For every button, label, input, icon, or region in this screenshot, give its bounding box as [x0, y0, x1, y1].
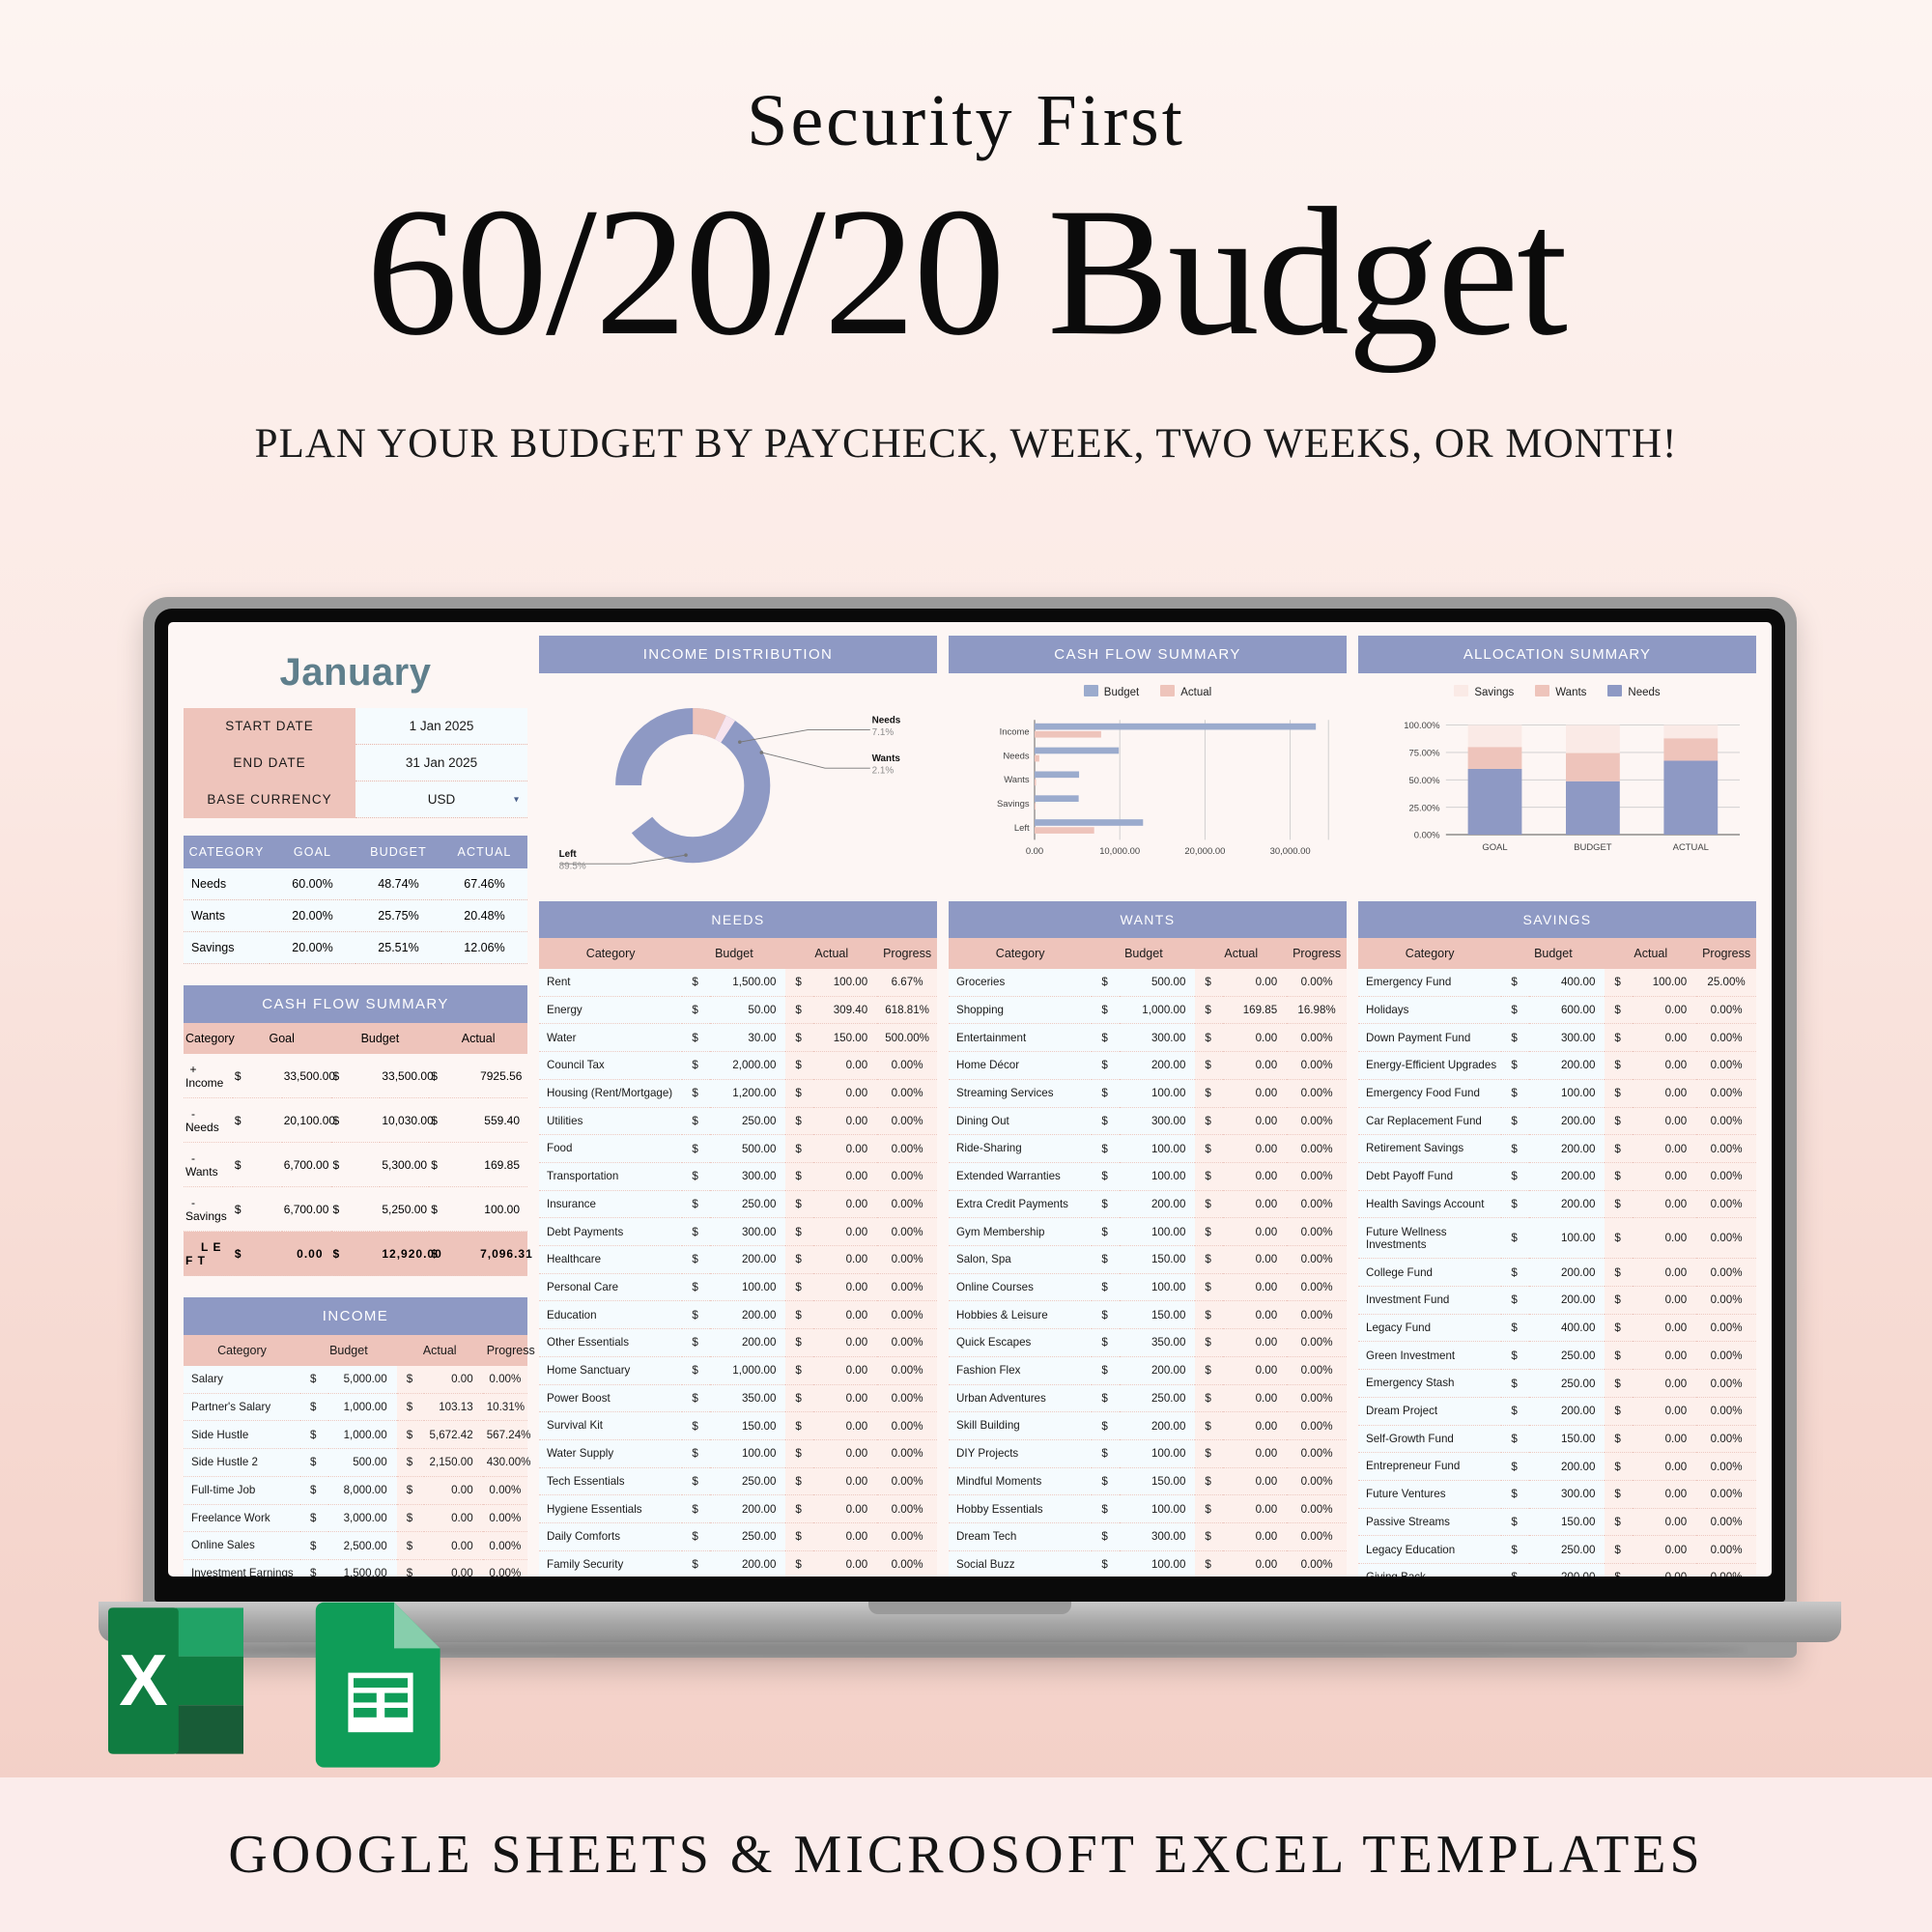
row-category: Gym Membership — [949, 1218, 1092, 1246]
row-budget[interactable]: 1,000.00 — [1120, 996, 1195, 1024]
row-budget[interactable]: 300.00 — [1120, 1523, 1195, 1551]
row-actual[interactable]: 0.00 — [1633, 1162, 1696, 1190]
allocation-summary-title: ALLOCATION SUMMARY — [1358, 636, 1756, 673]
currency-symbol: $ — [1501, 1314, 1529, 1342]
row-actual[interactable]: 0.00 — [1223, 1495, 1287, 1523]
row-actual[interactable]: 0.00 — [1223, 1439, 1287, 1467]
row-actual[interactable]: 0.00 — [1223, 1412, 1287, 1440]
row-actual[interactable]: 103.13 — [424, 1393, 483, 1421]
setup-label-end-date: END DATE — [184, 745, 355, 781]
row-budget[interactable]: 300.00 — [1120, 1107, 1195, 1135]
goal-row-category: Savings — [184, 932, 270, 964]
row-actual[interactable]: 0.00 — [813, 1329, 877, 1357]
row-actual[interactable]: 309.40 — [813, 996, 877, 1024]
row-budget[interactable]: 300.00 — [1529, 1480, 1605, 1508]
row-progress: 0.00% — [1287, 1107, 1347, 1135]
setup-value-start-date[interactable]: 1 Jan 2025 — [355, 708, 527, 745]
row-progress: 0.00% — [1696, 1425, 1756, 1453]
row-budget[interactable]: 200.00 — [1120, 1412, 1195, 1440]
row-budget[interactable]: 8,000.00 — [328, 1476, 397, 1504]
row-actual[interactable]: 0.00 — [1633, 1342, 1696, 1370]
row-actual[interactable]: 0.00 — [1633, 1508, 1696, 1536]
row-actual[interactable]: 0.00 — [424, 1559, 483, 1577]
row-budget[interactable]: 250.00 — [710, 1467, 785, 1495]
row-actual[interactable]: 0.00 — [1223, 1550, 1287, 1577]
cash-flow-chart-title: CASH FLOW SUMMARY — [949, 636, 1347, 673]
needs-table: Category Budget Actual Progress Rent$1,5… — [539, 938, 937, 1577]
setup-label-base-currency: BASE CURRENCY — [184, 781, 355, 818]
currency-symbol: $ — [1501, 1052, 1529, 1080]
cash-flow-row-name: -Needs — [184, 1098, 233, 1143]
row-budget[interactable]: 150.00 — [1120, 1301, 1195, 1329]
row-budget[interactable]: 100.00 — [1529, 1218, 1605, 1259]
row-budget[interactable]: 5,000.00 — [328, 1366, 397, 1393]
row-progress: 0.00% — [1287, 1079, 1347, 1107]
currency-symbol: $ — [1605, 1079, 1633, 1107]
chevron-down-icon[interactable]: ▾ — [514, 794, 519, 805]
y-tick-labels: IncomeNeedsWantsSavingsLeft — [997, 727, 1030, 834]
row-budget[interactable]: 300.00 — [710, 1162, 785, 1190]
row-actual[interactable]: 0.00 — [813, 1107, 877, 1135]
row-budget[interactable]: 100.00 — [1529, 1079, 1605, 1107]
row-actual[interactable]: 0.00 — [1223, 1162, 1287, 1190]
row-progress: 0.00% — [1696, 996, 1756, 1024]
row-budget[interactable]: 200.00 — [1120, 1052, 1195, 1080]
currency-symbol: $ — [1605, 1107, 1633, 1135]
table-row: Shopping$1,000.00$169.8516.98% — [949, 996, 1347, 1024]
needs-leader-dot — [738, 740, 742, 744]
table-row: Utilities$250.00$0.000.00% — [539, 1107, 937, 1135]
page-title: 60/20/20 Budget — [0, 177, 1932, 370]
currency-symbol: $ — [1501, 1218, 1529, 1259]
currency-symbol: $ — [1501, 1259, 1529, 1287]
row-actual[interactable]: 150.00 — [813, 1024, 877, 1052]
row-actual[interactable]: 0.00 — [1223, 1052, 1287, 1080]
row-budget[interactable]: 350.00 — [710, 1384, 785, 1412]
currency-symbol: $ — [785, 1190, 813, 1218]
currency-symbol: $ — [1501, 1480, 1529, 1508]
row-budget[interactable]: 400.00 — [1529, 1314, 1605, 1342]
col-budget: Budget — [682, 938, 785, 969]
row-category: Self-Growth Fund — [1358, 1425, 1501, 1453]
row-actual[interactable]: 0.00 — [1223, 1356, 1287, 1384]
row-actual[interactable]: 0.00 — [813, 1273, 877, 1301]
cash-flow-actual: 100.00 — [478, 1187, 527, 1232]
row-progress: 0.00% — [1287, 1412, 1347, 1440]
row-actual[interactable]: 0.00 — [813, 1412, 877, 1440]
row-actual[interactable]: 0.00 — [1633, 996, 1696, 1024]
currency-symbol: $ — [785, 1329, 813, 1357]
currency-symbol: $ — [785, 1467, 813, 1495]
row-actual[interactable]: 0.00 — [1633, 1370, 1696, 1398]
row-budget[interactable]: 200.00 — [710, 1495, 785, 1523]
wants-title: WANTS — [949, 901, 1347, 938]
row-actual[interactable]: 0.00 — [813, 1190, 877, 1218]
row-budget[interactable]: 200.00 — [1529, 1564, 1605, 1577]
bar-income-actual — [1035, 731, 1101, 738]
row-category: Freelance Work — [184, 1504, 300, 1532]
currency-symbol: $ — [300, 1532, 327, 1560]
table-row: Quick Escapes$350.00$0.000.00% — [949, 1329, 1347, 1357]
row-actual[interactable]: 0.00 — [1223, 1467, 1287, 1495]
currency-symbol: $ — [682, 1495, 710, 1523]
row-budget[interactable]: 1,500.00 — [328, 1559, 397, 1577]
row-budget[interactable]: 100.00 — [1120, 1439, 1195, 1467]
row-actual[interactable]: 0.00 — [1633, 1314, 1696, 1342]
row-actual[interactable]: 0.00 — [813, 1246, 877, 1274]
brand-name: Security First — [0, 79, 1932, 163]
row-budget[interactable]: 1,200.00 — [710, 1079, 785, 1107]
row-actual[interactable]: 0.00 — [1633, 1536, 1696, 1564]
row-budget[interactable]: 250.00 — [1529, 1370, 1605, 1398]
needs-body: Rent$1,500.00$100.006.67%Energy$50.00$30… — [539, 969, 937, 1577]
row-budget[interactable]: 200.00 — [1529, 1135, 1605, 1163]
row-actual[interactable]: 0.00 — [1223, 1218, 1287, 1246]
currency-symbol: $ — [682, 1162, 710, 1190]
currency-symbol: $ — [300, 1559, 327, 1577]
cash-flow-plot: IncomeNeedsWantsSavingsLeft 0.0010,000.0… — [997, 720, 1328, 857]
row-actual[interactable]: 0.00 — [1223, 1301, 1287, 1329]
table-row: Food$500.00$0.000.00% — [539, 1135, 937, 1163]
cash-flow-category-label: Income — [1000, 727, 1030, 738]
row-budget[interactable]: 30.00 — [710, 1024, 785, 1052]
row-budget[interactable]: 500.00 — [710, 1135, 785, 1163]
table-row: Entertainment$300.00$0.000.00% — [949, 1024, 1347, 1052]
row-category: Social Buzz — [949, 1550, 1092, 1577]
setup-value-end-date[interactable]: 31 Jan 2025 — [355, 745, 527, 781]
row-actual[interactable]: 0.00 — [424, 1366, 483, 1393]
allocation-x-tick: BUDGET — [1574, 842, 1612, 853]
row-actual[interactable]: 0.00 — [813, 1079, 877, 1107]
row-budget[interactable]: 250.00 — [1120, 1384, 1195, 1412]
row-actual[interactable]: 0.00 — [1633, 1564, 1696, 1577]
row-budget[interactable]: 200.00 — [1120, 1356, 1195, 1384]
row-budget[interactable]: 50.00 — [710, 996, 785, 1024]
col-actual: Actual — [397, 1335, 483, 1366]
col-budget: Budget — [1501, 938, 1605, 969]
row-category: Debt Payoff Fund — [1358, 1162, 1501, 1190]
row-progress: 0.00% — [1287, 1550, 1347, 1577]
row-budget[interactable]: 3,000.00 — [328, 1504, 397, 1532]
currency-symbol: $ — [682, 1412, 710, 1440]
row-budget[interactable]: 2,000.00 — [710, 1052, 785, 1080]
bar-savings-budget — [1035, 795, 1079, 802]
stacked-bars-group — [1468, 725, 1719, 835]
row-category: Full-time Job — [184, 1476, 300, 1504]
row-actual[interactable]: 0.00 — [424, 1476, 483, 1504]
row-actual[interactable]: 0.00 — [1633, 1453, 1696, 1481]
row-actual[interactable]: 0.00 — [813, 1301, 877, 1329]
row-budget[interactable]: 2,500.00 — [328, 1532, 397, 1560]
row-actual[interactable]: 0.00 — [813, 1218, 877, 1246]
row-actual[interactable]: 0.00 — [424, 1504, 483, 1532]
col-actual: Actual — [785, 938, 877, 969]
row-actual[interactable]: 0.00 — [813, 1550, 877, 1577]
row-budget[interactable]: 200.00 — [1529, 1287, 1605, 1315]
currency-symbol: $ — [1195, 1079, 1223, 1107]
table-row: Dream Project$200.00$0.000.00% — [1358, 1397, 1756, 1425]
currency-symbol: $ — [785, 1523, 813, 1551]
row-actual[interactable]: 0.00 — [1633, 1079, 1696, 1107]
row-progress: 0.00% — [877, 1190, 937, 1218]
cash-flow-category-label: Left — [1014, 823, 1030, 834]
currency-symbol: $ — [1195, 1523, 1223, 1551]
row-budget[interactable]: 100.00 — [1120, 1162, 1195, 1190]
currency-symbol: $ — [682, 1135, 710, 1163]
currency-symbol: $ — [1501, 1425, 1529, 1453]
currency-symbol: $ — [1195, 1135, 1223, 1163]
row-actual[interactable]: 0.00 — [1223, 969, 1287, 996]
row-budget[interactable]: 250.00 — [710, 1190, 785, 1218]
row-budget[interactable]: 200.00 — [1529, 1107, 1605, 1135]
row-budget[interactable]: 150.00 — [1120, 1467, 1195, 1495]
currency-symbol: $ — [1501, 1342, 1529, 1370]
row-category: Streaming Services — [949, 1079, 1092, 1107]
currency-symbol: $ — [1092, 1135, 1120, 1163]
row-progress: 0.00% — [1696, 1287, 1756, 1315]
row-budget[interactable]: 600.00 — [1529, 996, 1605, 1024]
currency-symbol: $ — [785, 1135, 813, 1163]
row-actual[interactable]: 0.00 — [1633, 1259, 1696, 1287]
row-actual[interactable]: 0.00 — [1633, 1425, 1696, 1453]
row-budget[interactable]: 350.00 — [1120, 1329, 1195, 1357]
row-actual[interactable]: 0.00 — [813, 1135, 877, 1163]
poster-header: Security First 60/20/20 Budget PLAN YOUR… — [0, 0, 1932, 468]
table-row: Skill Building$200.00$0.000.00% — [949, 1412, 1347, 1440]
currency-symbol: $ — [1501, 1024, 1529, 1052]
row-budget[interactable]: 100.00 — [710, 1273, 785, 1301]
row-budget[interactable]: 200.00 — [1529, 1052, 1605, 1080]
row-actual[interactable]: 0.00 — [1223, 1079, 1287, 1107]
row-actual[interactable]: 0.00 — [424, 1532, 483, 1560]
row-progress: 0.00% — [877, 1246, 937, 1274]
currency-symbol: $ — [1092, 1162, 1120, 1190]
row-progress: 0.00% — [1696, 1480, 1756, 1508]
template-format-logos: X — [108, 1594, 448, 1768]
row-budget[interactable]: 200.00 — [1529, 1259, 1605, 1287]
row-budget[interactable]: 100.00 — [1120, 1550, 1195, 1577]
row-budget[interactable]: 100.00 — [1120, 1079, 1195, 1107]
row-actual[interactable]: 0.00 — [1633, 1480, 1696, 1508]
currency-symbol: $ — [1605, 1397, 1633, 1425]
row-actual[interactable]: 2,150.00 — [424, 1449, 483, 1477]
row-budget[interactable]: 250.00 — [1529, 1342, 1605, 1370]
row-budget[interactable]: 100.00 — [1120, 1495, 1195, 1523]
row-actual[interactable]: 0.00 — [813, 1523, 877, 1551]
row-budget[interactable]: 200.00 — [710, 1246, 785, 1274]
row-progress: 0.00% — [1287, 1052, 1347, 1080]
row-budget[interactable]: 250.00 — [1529, 1536, 1605, 1564]
row-budget[interactable]: 250.00 — [710, 1523, 785, 1551]
row-budget[interactable]: 400.00 — [1529, 969, 1605, 996]
row-category: Extra Credit Payments — [949, 1190, 1092, 1218]
row-actual[interactable]: 0.00 — [1223, 1273, 1287, 1301]
currency-symbol: $ — [1092, 1218, 1120, 1246]
currency-symbol: $ — [397, 1421, 424, 1449]
row-budget[interactable]: 150.00 — [1120, 1246, 1195, 1274]
table-row: Dream Tech$300.00$0.000.00% — [949, 1523, 1347, 1551]
row-actual[interactable]: 0.00 — [1223, 1329, 1287, 1357]
row-category: Emergency Food Fund — [1358, 1079, 1501, 1107]
spreadsheet-screen: January START DATE 1 Jan 2025 END DATE 3… — [168, 622, 1772, 1577]
currency-symbol: $ — [429, 1187, 478, 1232]
row-budget[interactable]: 200.00 — [710, 1329, 785, 1357]
table-row: Wants20.00%25.75%20.48% — [184, 900, 527, 932]
row-budget[interactable]: 500.00 — [1120, 969, 1195, 996]
row-actual[interactable]: 0.00 — [1633, 1107, 1696, 1135]
currency-symbol: $ — [300, 1504, 327, 1532]
row-actual[interactable]: 0.00 — [1223, 1024, 1287, 1052]
allocation-y-tick: 100.00% — [1404, 721, 1440, 731]
row-budget[interactable]: 300.00 — [1529, 1024, 1605, 1052]
row-budget[interactable]: 200.00 — [1529, 1162, 1605, 1190]
row-actual[interactable]: 0.00 — [813, 1162, 877, 1190]
row-actual[interactable]: 0.00 — [813, 1467, 877, 1495]
setup-value-base-currency[interactable]: USD ▾ — [355, 781, 527, 818]
row-actual[interactable]: 100.00 — [1633, 969, 1696, 996]
table-row: Fashion Flex$200.00$0.000.00% — [949, 1356, 1347, 1384]
row-actual[interactable]: 0.00 — [1633, 1052, 1696, 1080]
row-budget[interactable]: 150.00 — [1529, 1425, 1605, 1453]
table-row: Debt Payoff Fund$200.00$0.000.00% — [1358, 1162, 1756, 1190]
row-budget[interactable]: 250.00 — [710, 1107, 785, 1135]
row-actual[interactable]: 0.00 — [1633, 1024, 1696, 1052]
row-budget[interactable]: 200.00 — [1529, 1397, 1605, 1425]
row-actual[interactable]: 0.00 — [1633, 1397, 1696, 1425]
row-progress: 0.00% — [1287, 969, 1347, 996]
row-budget[interactable]: 100.00 — [710, 1439, 785, 1467]
row-actual[interactable]: 100.00 — [813, 969, 877, 996]
table-row: -Wants$6,700.00$5,300.00$169.85 — [184, 1143, 527, 1187]
currency-symbol: $ — [233, 1054, 282, 1098]
row-budget[interactable]: 200.00 — [1529, 1453, 1605, 1481]
row-category: Ride-Sharing — [949, 1135, 1092, 1163]
row-progress: 6.67% — [877, 969, 937, 996]
row-progress: 0.00% — [1696, 1190, 1756, 1218]
row-category: Healthcare — [539, 1246, 682, 1274]
currency-symbol: $ — [682, 1024, 710, 1052]
row-actual[interactable]: 0.00 — [1633, 1287, 1696, 1315]
row-actual[interactable]: 0.00 — [813, 1052, 877, 1080]
row-actual[interactable]: 0.00 — [813, 1495, 877, 1523]
row-category: Groceries — [949, 969, 1092, 996]
table-row: START DATE 1 Jan 2025 — [184, 708, 527, 745]
row-actual[interactable]: 0.00 — [1633, 1135, 1696, 1163]
currency-symbol: $ — [1501, 1370, 1529, 1398]
row-budget[interactable]: 200.00 — [710, 1301, 785, 1329]
col-progress: Progress — [1287, 938, 1347, 969]
cash-flow-row-name: L E F T — [184, 1232, 233, 1276]
table-row: Transportation$300.00$0.000.00% — [539, 1162, 937, 1190]
row-progress: 0.00% — [877, 1384, 937, 1412]
currency-symbol: $ — [233, 1232, 282, 1276]
table-row: Holidays$600.00$0.000.00% — [1358, 996, 1756, 1024]
row-budget[interactable]: 100.00 — [1120, 1273, 1195, 1301]
row-progress: 0.00% — [1696, 1079, 1756, 1107]
table-row: Legacy Education$250.00$0.000.00% — [1358, 1536, 1756, 1564]
currency-symbol: $ — [1195, 1024, 1223, 1052]
currency-symbol: $ — [682, 1052, 710, 1080]
row-budget[interactable]: 200.00 — [1529, 1190, 1605, 1218]
allocation-summary-widget: ALLOCATION SUMMARY Savings Wants Needs 0… — [1358, 636, 1756, 890]
currency-symbol: $ — [1195, 1190, 1223, 1218]
row-actual[interactable]: 0.00 — [1633, 1218, 1696, 1259]
row-budget[interactable]: 1,000.00 — [328, 1393, 397, 1421]
table-row: Hygiene Essentials$200.00$0.000.00% — [539, 1495, 937, 1523]
savings-title: SAVINGS — [1358, 901, 1756, 938]
table-row: Side Hustle 2$500.00$2,150.00430.00% — [184, 1449, 527, 1477]
row-actual[interactable]: 0.00 — [1633, 1190, 1696, 1218]
row-actual[interactable]: 5,672.42 — [424, 1421, 483, 1449]
row-budget[interactable]: 1,000.00 — [328, 1421, 397, 1449]
row-budget[interactable]: 150.00 — [1529, 1508, 1605, 1536]
row-progress: 0.00% — [877, 1412, 937, 1440]
goal-row-value: 60.00% — [270, 868, 355, 900]
currency-symbol: $ — [1605, 1314, 1633, 1342]
table-row: Personal Care$100.00$0.000.00% — [539, 1273, 937, 1301]
currency-symbol: $ — [1195, 1301, 1223, 1329]
cash-flow-budget: 5,250.00 — [380, 1187, 429, 1232]
currency-symbol: $ — [429, 1143, 478, 1187]
currency-symbol: $ — [682, 1218, 710, 1246]
currency-symbol: $ — [331, 1054, 381, 1098]
currency-symbol: $ — [1501, 1536, 1529, 1564]
row-actual[interactable]: 0.00 — [1223, 1107, 1287, 1135]
legend-label-savings: Savings — [1474, 687, 1514, 698]
row-actual[interactable]: 169.85 — [1223, 996, 1287, 1024]
col-category: Category — [539, 938, 682, 969]
currency-symbol: $ — [785, 1495, 813, 1523]
row-category: Housing (Rent/Mortgage) — [539, 1079, 682, 1107]
stack-actual-savings — [1663, 725, 1718, 739]
table-row: Giving Back$200.00$0.000.00% — [1358, 1564, 1756, 1577]
row-budget[interactable]: 1,000.00 — [710, 1356, 785, 1384]
row-budget[interactable]: 500.00 — [328, 1449, 397, 1477]
row-budget[interactable]: 150.00 — [710, 1412, 785, 1440]
currency-symbol: $ — [1092, 1329, 1120, 1357]
row-actual[interactable]: 0.00 — [813, 1356, 877, 1384]
row-budget[interactable]: 200.00 — [1120, 1190, 1195, 1218]
row-budget[interactable]: 300.00 — [1120, 1024, 1195, 1052]
row-progress: 0.00% — [1696, 1564, 1756, 1577]
row-category: Holidays — [1358, 996, 1501, 1024]
row-actual[interactable]: 0.00 — [813, 1439, 877, 1467]
bar-needs-budget — [1035, 748, 1119, 754]
row-budget[interactable]: 100.00 — [1120, 1135, 1195, 1163]
row-actual[interactable]: 0.00 — [1223, 1190, 1287, 1218]
currency-symbol: $ — [300, 1476, 327, 1504]
month-title: January — [184, 636, 527, 708]
wants-table-wrap: WANTS Category Budget Actual Progress Gr… — [949, 901, 1347, 1577]
allocation-legend: Savings Wants Needs — [1366, 683, 1748, 704]
row-category: Online Courses — [949, 1273, 1092, 1301]
row-progress: 0.00% — [877, 1079, 937, 1107]
row-category: Power Boost — [539, 1384, 682, 1412]
row-category: Dream Project — [1358, 1397, 1501, 1425]
currency-symbol: $ — [1195, 1412, 1223, 1440]
row-actual[interactable]: 0.00 — [1223, 1384, 1287, 1412]
row-actual[interactable]: 0.00 — [1223, 1135, 1287, 1163]
row-budget[interactable]: 200.00 — [710, 1550, 785, 1577]
cash-flow-x-tick: 10,000.00 — [1099, 846, 1140, 857]
row-actual[interactable]: 0.00 — [1223, 1246, 1287, 1274]
row-actual[interactable]: 0.00 — [1223, 1523, 1287, 1551]
row-budget[interactable]: 1,500.00 — [710, 969, 785, 996]
row-category: Health Savings Account — [1358, 1190, 1501, 1218]
row-budget[interactable]: 100.00 — [1120, 1218, 1195, 1246]
row-budget[interactable]: 300.00 — [710, 1218, 785, 1246]
row-actual[interactable]: 0.00 — [813, 1384, 877, 1412]
